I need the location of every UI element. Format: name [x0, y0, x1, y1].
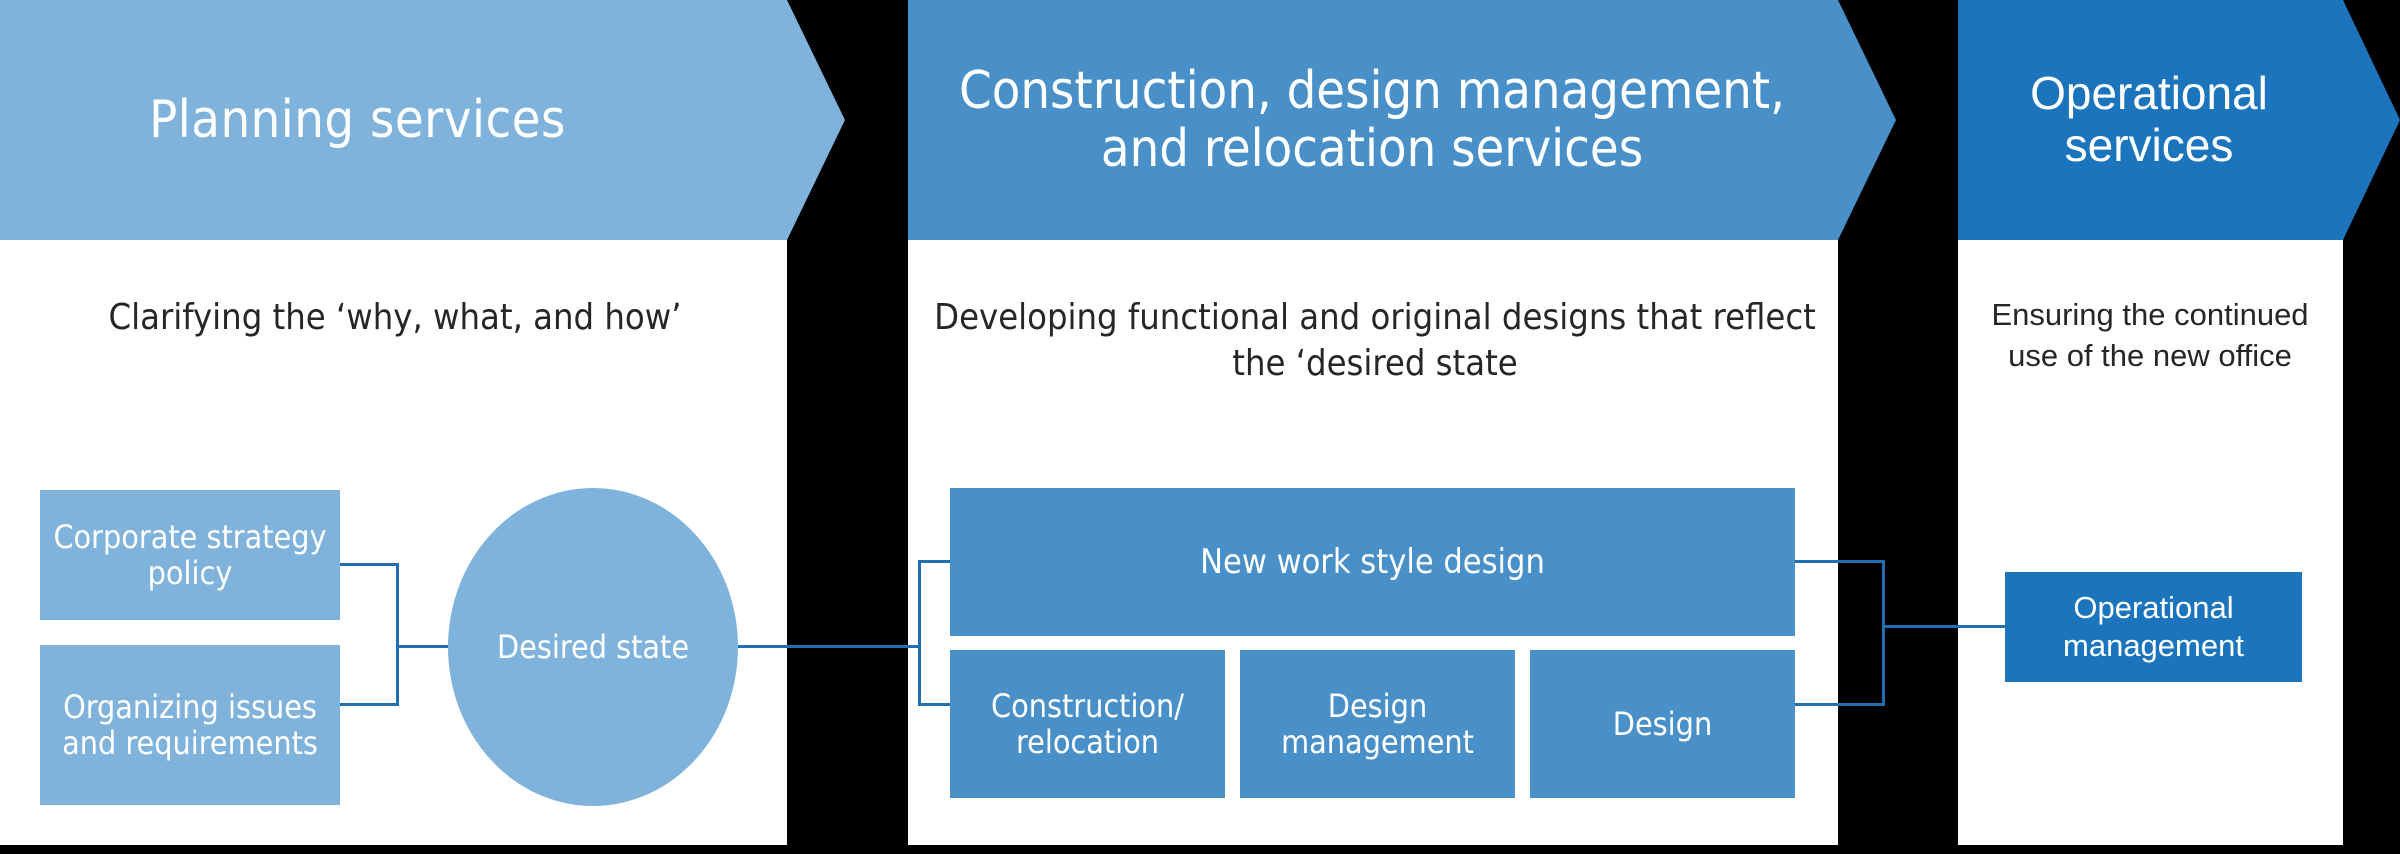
node-organizing-issues-and-requirements-label: Organizing issues and requirements	[40, 689, 340, 762]
node-corporate-strategy-policy-label: Corporate strategy policy	[40, 519, 340, 592]
connector-construction-row-to-spine	[1795, 703, 1885, 706]
node-operational-management[interactable]: Operational management	[2005, 572, 2302, 682]
node-new-work-style-design-label: New work style design	[1200, 543, 1545, 582]
phase-header-construction-label: Construction, design management, and rel…	[938, 62, 1806, 178]
node-corporate-strategy-policy[interactable]: Corporate strategy policy	[40, 490, 340, 620]
node-construction-relocation[interactable]: Construction/ relocation	[950, 650, 1225, 798]
node-new-work-style-design[interactable]: New work style design	[950, 488, 1795, 636]
connector-spine-to-desired-state	[396, 645, 456, 648]
node-design-management-label: Design management	[1240, 688, 1515, 761]
node-operational-management-label: Operational management	[2005, 589, 2302, 665]
node-design-label: Design	[1613, 706, 1712, 742]
phase-header-construction[interactable]: Construction, design management, and rel…	[908, 0, 1896, 240]
node-organizing-issues-and-requirements[interactable]: Organizing issues and requirements	[40, 645, 340, 805]
phase-header-operational-label: Operational services	[1978, 68, 2320, 171]
phase-header-planning-label: Planning services	[149, 91, 566, 149]
connector-organizing-to-spine	[340, 703, 398, 706]
node-construction-relocation-label: Construction/ relocation	[950, 688, 1225, 761]
connector-desired-state-to-spine	[730, 645, 920, 648]
phase-header-planning[interactable]: Planning services	[0, 0, 845, 240]
node-desired-state[interactable]: Desired state	[448, 488, 738, 806]
connector-corporate-to-spine	[340, 563, 398, 566]
phase-description-planning: Clarifying the ‘why, what, and how’	[20, 295, 770, 341]
connector-new-work-style-to-spine	[1795, 560, 1885, 563]
phase-description-operational: Ensuring the continued use of the new of…	[1975, 295, 2325, 377]
phase-header-operational[interactable]: Operational services	[1958, 0, 2400, 240]
connector-spine-to-operational-management	[1882, 625, 2007, 628]
connector-spine-planning	[396, 563, 399, 706]
node-design-management[interactable]: Design management	[1240, 650, 1515, 798]
node-desired-state-label: Desired state	[497, 629, 689, 665]
connector-spine-operational	[1882, 560, 1885, 706]
phase-description-construction: Developing functional and original desig…	[930, 295, 1820, 387]
connector-spine-construction-in	[918, 560, 921, 706]
node-design[interactable]: Design	[1530, 650, 1795, 798]
diagram-canvas: Planning services Construction, design m…	[0, 0, 2400, 854]
